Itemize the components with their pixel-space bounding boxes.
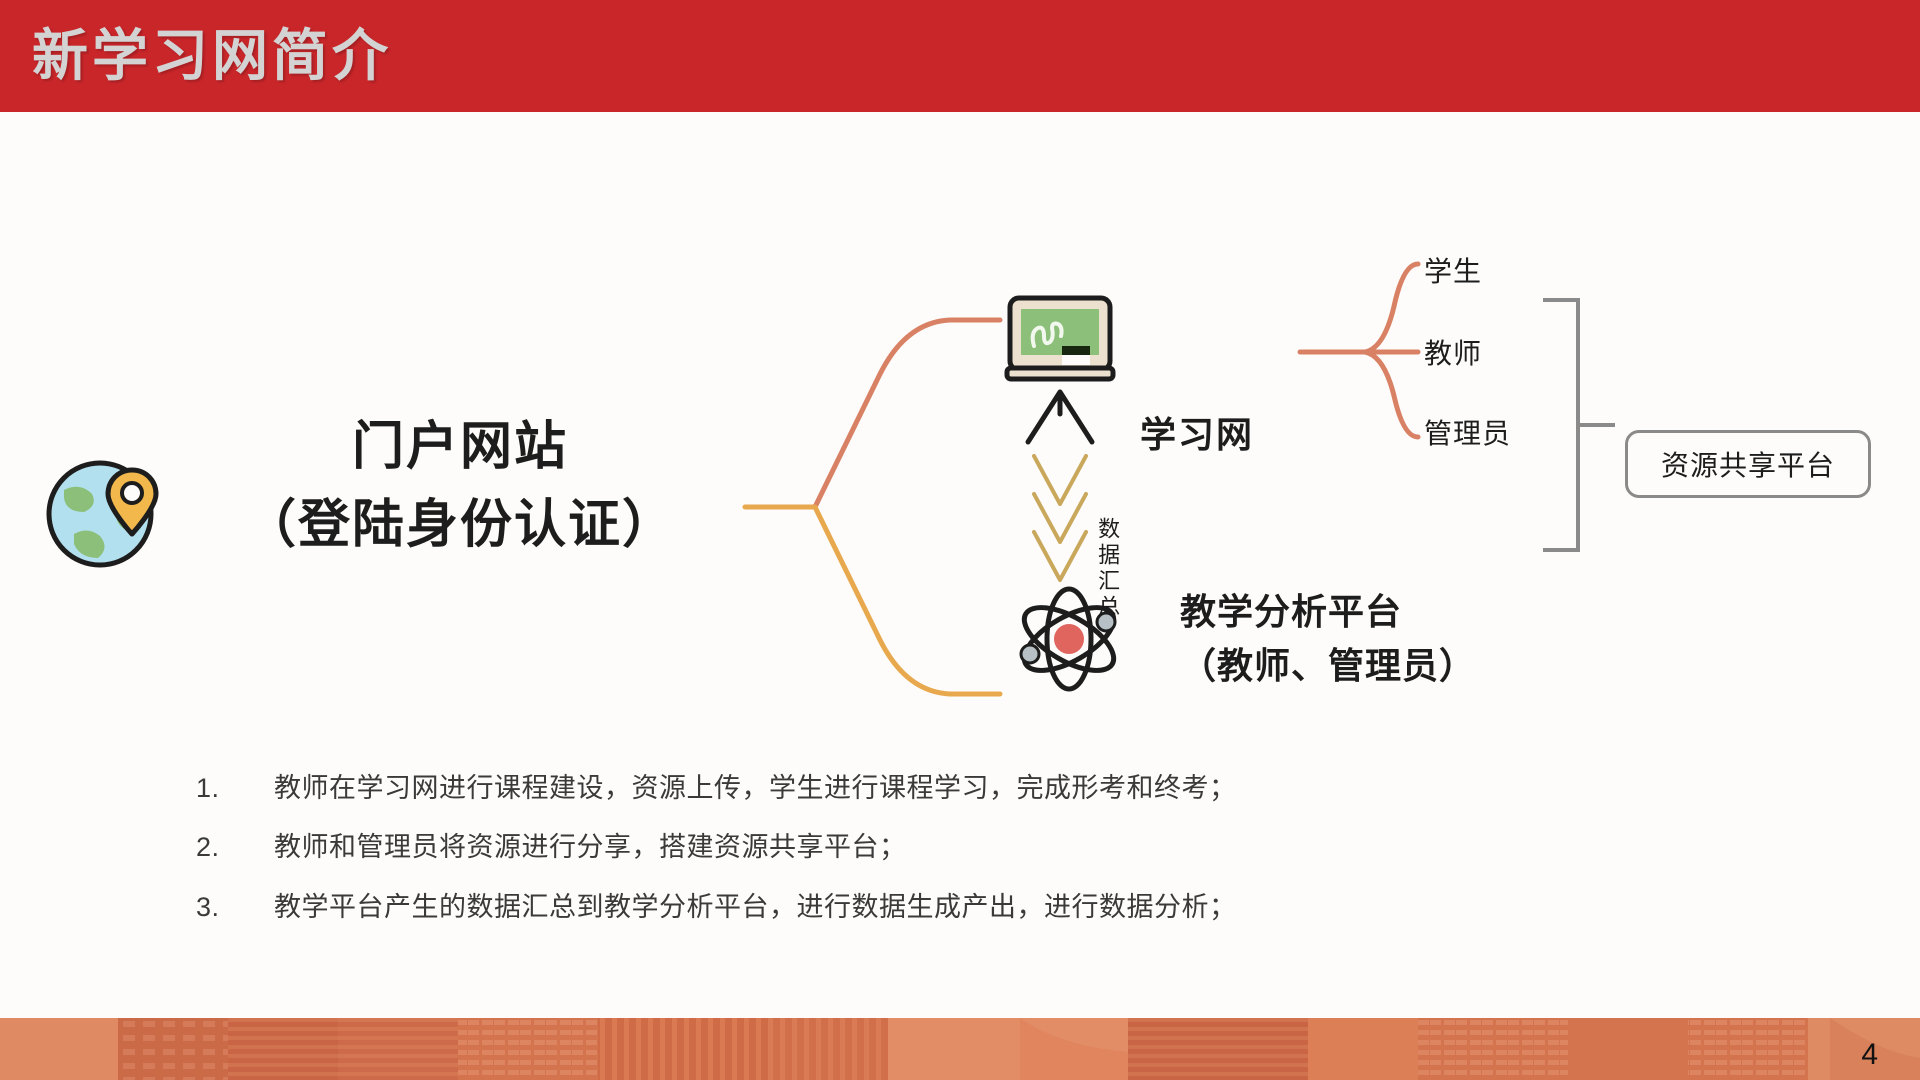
page-number: 4 [1861, 1038, 1878, 1072]
portal-website-label: 门户网站 （登陆身份认证） [200, 408, 720, 564]
blackboard-easel-icon [1000, 290, 1120, 400]
role-branch-admin-line [1365, 352, 1418, 437]
fork-upper-branch-line [815, 320, 1000, 507]
portal-label-line1: 门户网站 [200, 408, 720, 486]
list-item-number: 3. [196, 891, 274, 923]
role-label-student: 学生 [1424, 250, 1482, 290]
header-banner: 新学习网简介 [0, 0, 1920, 112]
list-item-number: 1. [196, 772, 274, 804]
fork-lower-branch-line [815, 507, 1000, 694]
resource-share-platform-label: 资源共享平台 [1661, 444, 1835, 484]
analysis-label-line2: （教师、管理员） [1180, 639, 1476, 693]
portal-label-line2: （登陆身份认证） [200, 486, 720, 564]
page-title: 新学习网简介 [32, 6, 392, 106]
list-item-text: 教师在学习网进行课程建设，资源上传，学生进行课程学习，完成形考和终考； [274, 772, 1796, 804]
data-flow-arrows [1034, 456, 1086, 580]
slide: 新学习网简介 [0, 0, 1920, 1080]
globe-location-pin-icon [40, 442, 170, 572]
cityscape-pattern [0, 1018, 1920, 1080]
numbered-list: 1. 教师在学习网进行课程建设，资源上传，学生进行课程学习，完成形考和终考； 2… [196, 772, 1796, 950]
list-item: 2. 教师和管理员将资源进行分享，搭建资源共享平台； [196, 831, 1796, 863]
footer-cityscape-strip: 4 [0, 1018, 1920, 1080]
list-item: 1. 教师在学习网进行课程建设，资源上传，学生进行课程学习，完成形考和终考； [196, 772, 1796, 804]
grouping-bracket [1545, 300, 1578, 550]
atom-icon [1010, 580, 1128, 698]
analysis-platform-label: 教学分析平台 （教师、管理员） [1180, 585, 1476, 693]
resource-share-platform-box: 资源共享平台 [1625, 430, 1871, 498]
list-item-text: 教师和管理员将资源进行分享，搭建资源共享平台； [274, 831, 1796, 863]
list-item: 3. 教学平台产生的数据汇总到教学分析平台，进行数据生成产出，进行数据分析； [196, 891, 1796, 923]
role-branch-student-line [1365, 264, 1418, 352]
diagram-area: 门户网站 （登陆身份认证） 学习网 数据汇总 教学分 [0, 112, 1920, 772]
list-item-number: 2. [196, 831, 274, 863]
list-item-text: 教学平台产生的数据汇总到教学分析平台，进行数据生成产出，进行数据分析； [274, 891, 1796, 923]
study-net-label: 学习网 [1140, 406, 1254, 458]
role-label-admin: 管理员 [1424, 412, 1511, 452]
role-label-teacher: 教师 [1424, 332, 1482, 372]
analysis-label-line1: 教学分析平台 [1180, 585, 1476, 639]
